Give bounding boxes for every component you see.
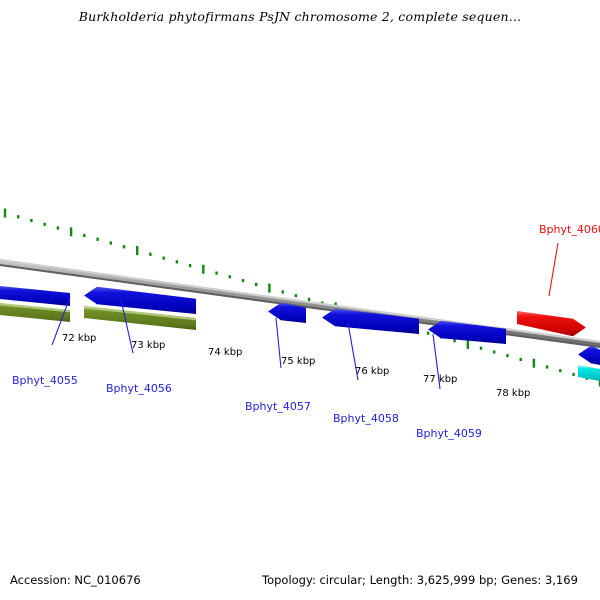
coordinate-label: 77 kbp [423, 374, 457, 385]
sequence-tick [215, 272, 217, 275]
coordinate-label: 76 kbp [355, 366, 389, 377]
gene-label[interactable]: Bphyt_4057 [245, 400, 311, 413]
sequence-tick [295, 294, 297, 297]
sequence-tick [546, 365, 548, 368]
sequence-tick [17, 215, 19, 218]
sequence-tick [520, 358, 522, 361]
sequence-tick [480, 347, 482, 350]
sequence-stats-text: Topology: circular; Length: 3,625,999 bp… [262, 573, 578, 587]
sequence-tick [189, 264, 191, 267]
coordinate-label: 72 kbp [62, 333, 96, 344]
sequence-tick [70, 227, 72, 236]
sequence-tick [268, 284, 270, 293]
sequence-tick [57, 226, 59, 229]
gene-arrow[interactable] [0, 286, 70, 306]
sequence-tick [4, 209, 6, 218]
sequence-tick [572, 373, 574, 376]
gene-label[interactable]: Bphyt_4056 [106, 382, 172, 395]
sequence-tick [136, 246, 138, 255]
sequence-tick [533, 359, 535, 368]
sequence-tick [163, 257, 165, 260]
sequence-tick [308, 298, 310, 301]
coordinate-label: 74 kbp [208, 347, 242, 358]
coordinate-label: 73 kbp [131, 340, 165, 351]
sequence-tick [255, 283, 257, 286]
gene-feature[interactable] [428, 321, 506, 344]
accession-text: Accession: NC_010676 [10, 573, 141, 587]
sequence-tick [123, 245, 125, 248]
gene-label[interactable]: Bphyt_4059 [416, 427, 482, 440]
sequence-tick [44, 223, 46, 226]
gene-label[interactable]: Bphyt_4055 [12, 374, 78, 387]
gene-label[interactable]: Bphyt_4058 [333, 412, 399, 425]
gene-arrow[interactable] [428, 321, 506, 344]
sequence-tick [453, 339, 455, 342]
sequence-tick [83, 234, 85, 237]
sequence-tick [427, 332, 429, 335]
genome-map[interactable]: 72 kbp73 kbp74 kbp75 kbp76 kbp77 kbp78 k… [0, 0, 600, 600]
gene-arrow[interactable] [578, 346, 600, 365]
sequence-tick [229, 275, 231, 278]
sequence-tick [30, 219, 32, 222]
sequence-tick [506, 354, 508, 357]
gene-feature[interactable] [578, 346, 600, 381]
gene-feature[interactable] [0, 286, 70, 322]
sequence-tick [467, 340, 469, 349]
sequence-tick [282, 290, 284, 293]
coordinate-label: 78 kbp [496, 388, 530, 399]
sequence-tick [176, 260, 178, 263]
sequence-tick [96, 238, 98, 241]
genome-viewer-panel: Burkholderia phytofirmans PsJN chromosom… [0, 0, 600, 600]
sequence-tick [149, 253, 151, 256]
sequence-tick [559, 369, 561, 372]
sequence-tick [202, 265, 204, 274]
sequence-tick [110, 241, 112, 244]
gene-feature[interactable] [84, 287, 196, 330]
label-leader-line [549, 243, 558, 296]
gene-label[interactable]: Bphyt_4060 [539, 223, 600, 236]
coordinate-label: 75 kbp [281, 356, 315, 367]
sequence-tick [242, 279, 244, 282]
sequence-tick [493, 350, 495, 353]
